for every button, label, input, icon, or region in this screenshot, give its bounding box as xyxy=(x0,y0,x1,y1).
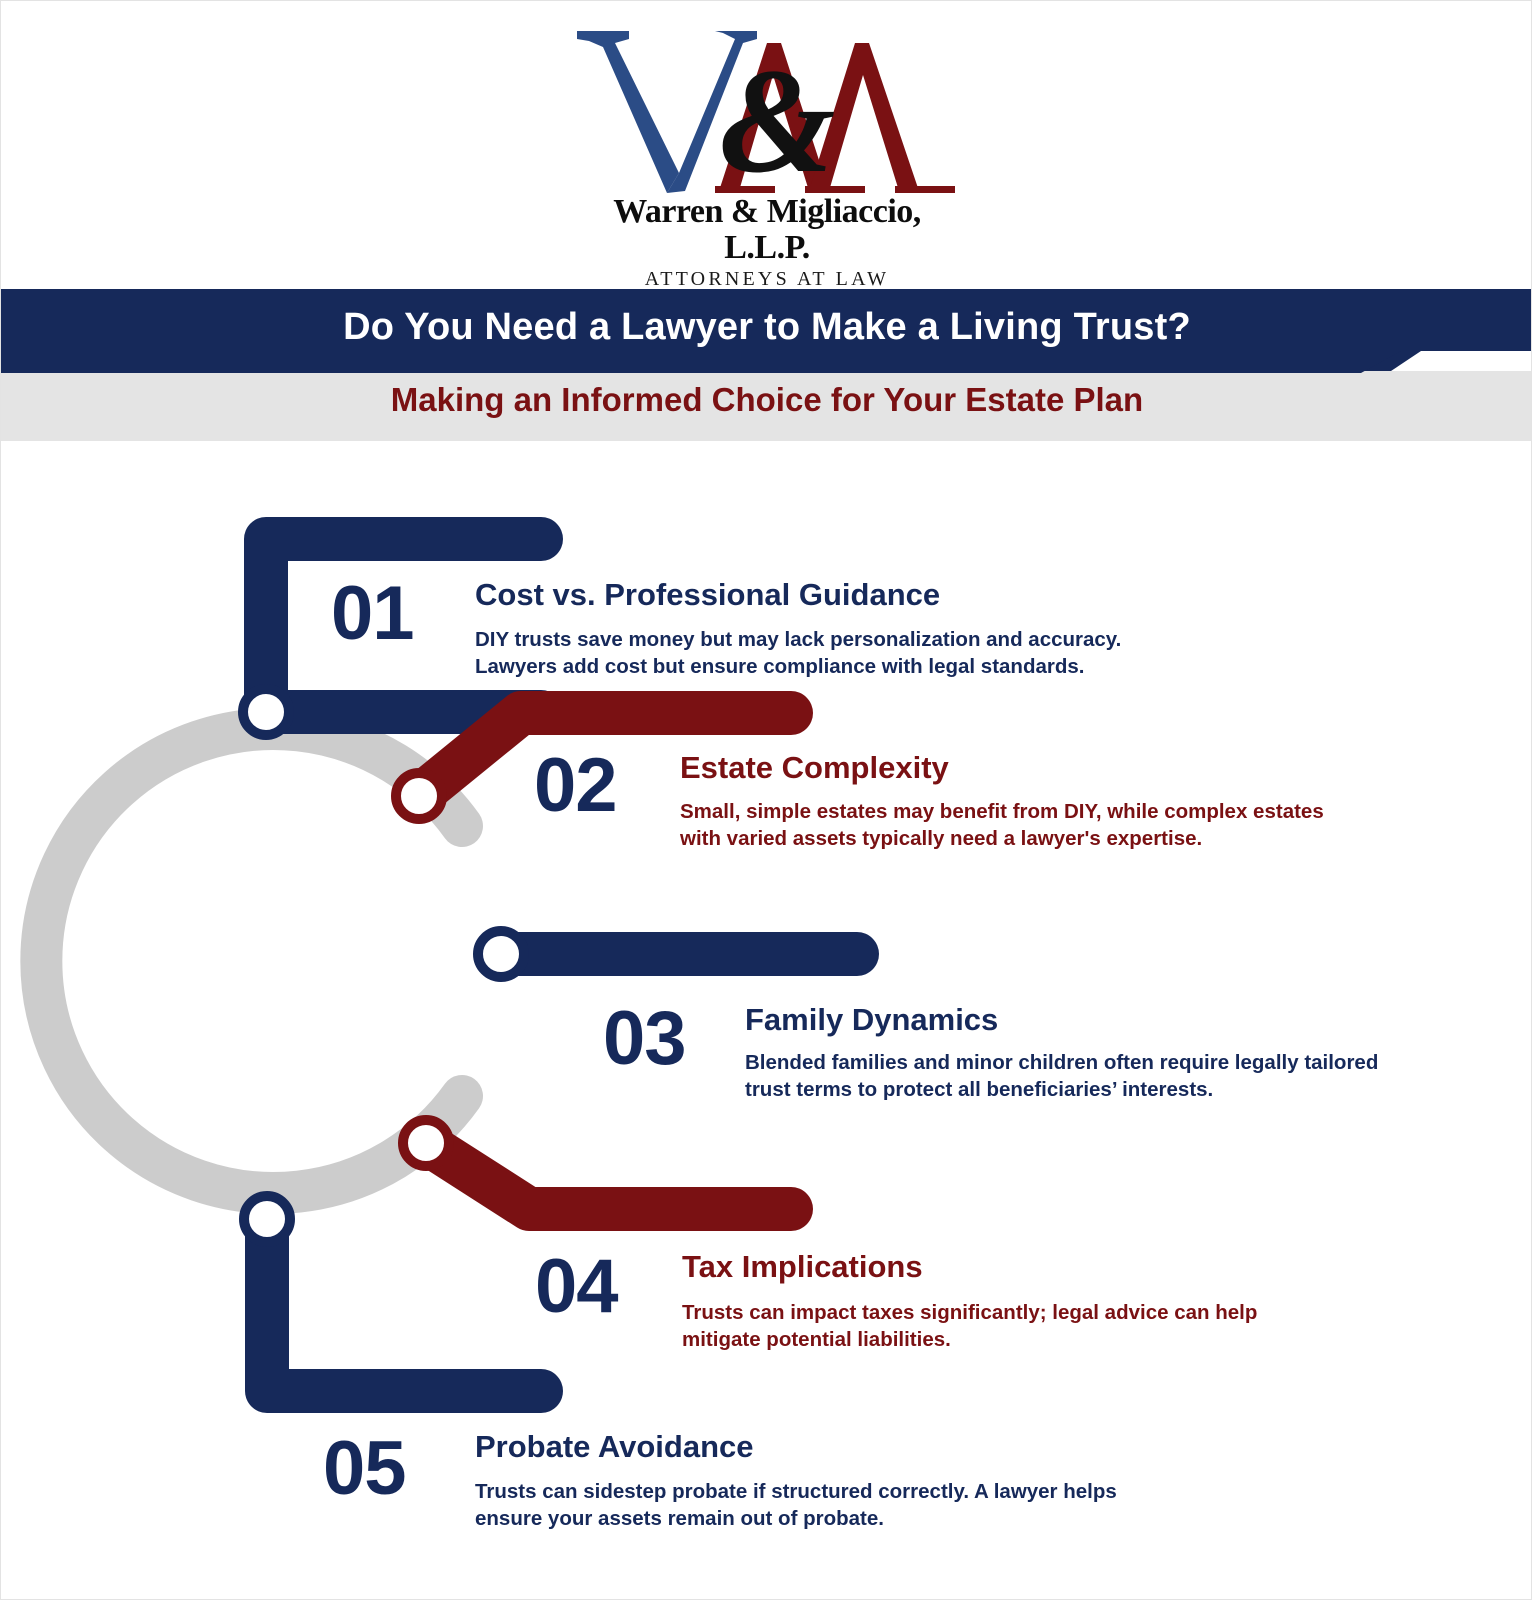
logo-firm-name: Warren & Migliaccio, L.L.P. xyxy=(567,194,967,265)
logo: & Warren & Migliaccio, L.L.P. ATTORNEYS … xyxy=(567,23,967,273)
logo-header: & Warren & Migliaccio, L.L.P. ATTORNEYS … xyxy=(1,1,1532,289)
page-subtitle: Making an Informed Choice for Your Estat… xyxy=(1,381,1532,419)
step-desc-line: Trusts can sidestep probate if structure… xyxy=(475,1478,1235,1505)
infographic-page: & Warren & Migliaccio, L.L.P. ATTORNEYS … xyxy=(0,0,1532,1600)
step-title-05: Probate Avoidance xyxy=(475,1431,754,1464)
svg-text:&: & xyxy=(719,38,836,198)
step-number-05: 05 xyxy=(323,1431,406,1507)
title-banner: Do You Need a Lawyer to Make a Living Tr… xyxy=(1,289,1532,441)
wm-monogram-icon: & xyxy=(567,23,967,198)
step-item-05: 05 Probate Avoidance Trusts can sidestep… xyxy=(1,441,1532,1600)
page-title: Do You Need a Lawyer to Make a Living Tr… xyxy=(1,306,1532,349)
steps-diagram: 01 Cost vs. Professional Guidance DIY tr… xyxy=(1,441,1532,1600)
step-description-05: Trusts can sidestep probate if structure… xyxy=(475,1478,1235,1532)
step-desc-line: ensure your assets remain out of probate… xyxy=(475,1505,1235,1532)
logo-tagline: ATTORNEYS AT LAW xyxy=(567,268,967,291)
